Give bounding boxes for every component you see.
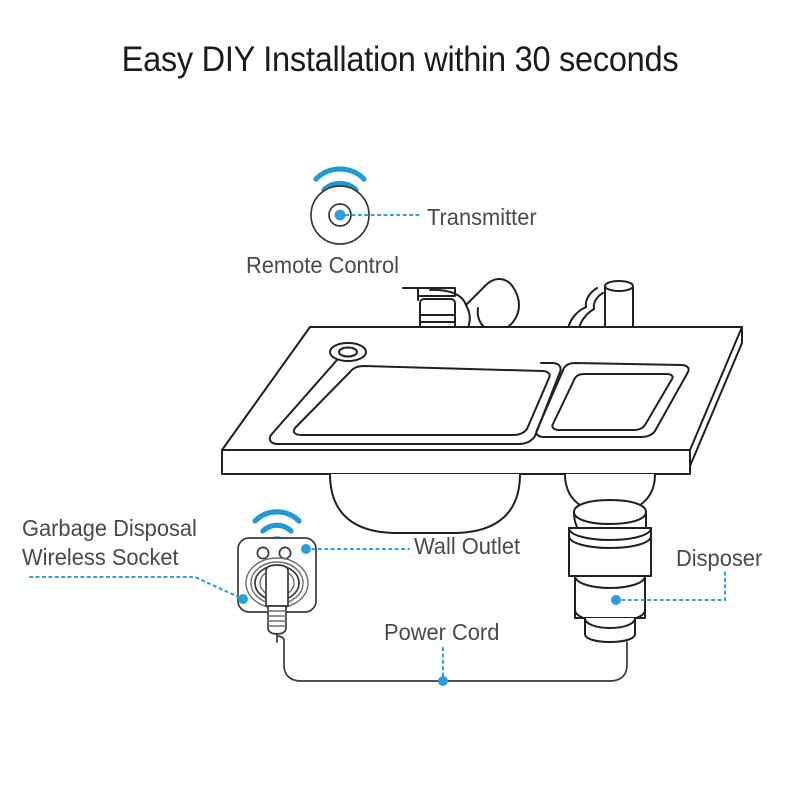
remote-control-group (311, 169, 369, 244)
kitchen-sink-group (222, 279, 742, 533)
installation-diagram-illustration: .ln { fill:none; stroke:#231f20; stroke-… (0, 0, 800, 800)
wireless-socket-group (238, 512, 316, 642)
label-disposer: Disposer (676, 544, 762, 573)
diagram-canvas: Easy DIY Installation within 30 seconds … (0, 0, 800, 800)
label-wireless-socket: Garbage Disposal Wireless Socket (22, 514, 197, 572)
leader-power-cord (438, 648, 448, 686)
leader-wall-outlet (301, 544, 409, 554)
label-transmitter: Transmitter (427, 203, 537, 232)
label-remote-control: Remote Control (246, 251, 399, 280)
leader-wireless-socket (30, 577, 248, 604)
garbage-disposer-group (569, 500, 651, 642)
label-power-cord: Power Cord (384, 618, 499, 647)
wifi-signal-icon-socket (255, 512, 299, 541)
label-wall-outlet: Wall Outlet (414, 532, 520, 561)
label-wireless-socket-line1: Garbage Disposal (22, 515, 197, 541)
label-wireless-socket-line2: Wireless Socket (22, 543, 197, 572)
